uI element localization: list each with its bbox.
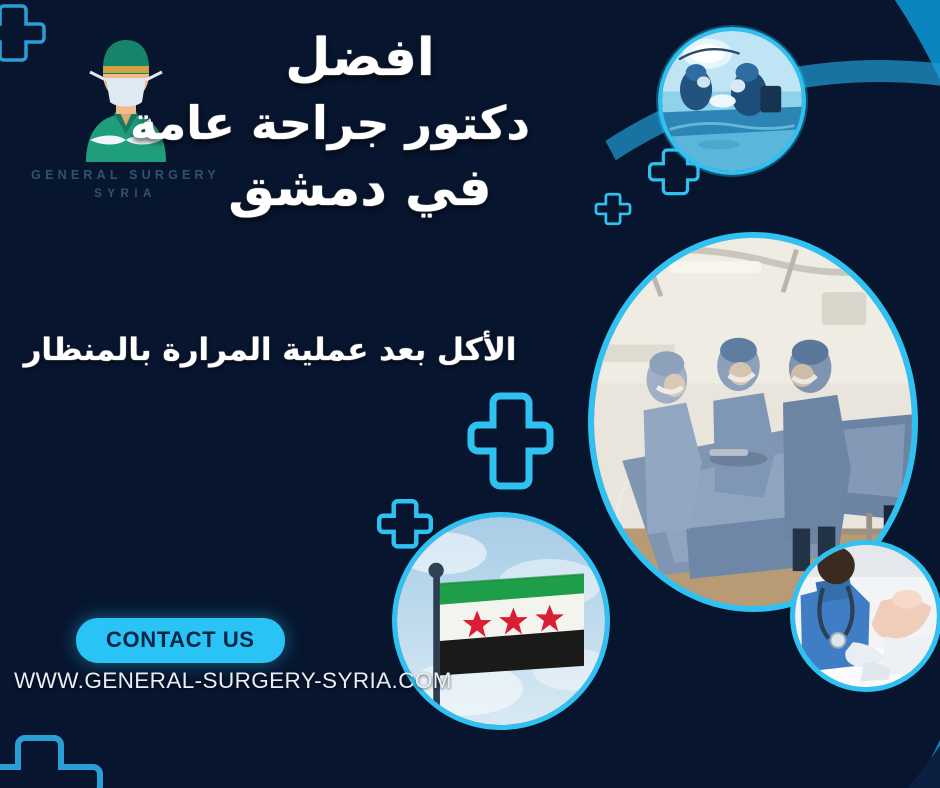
website-url[interactable]: WWW.GENERAL-SURGERY-SYRIA.COM	[14, 668, 452, 694]
photo-nurse-patient	[790, 540, 940, 692]
cross-top-left-icon	[0, 2, 44, 64]
subheadline: الأكل بعد عملية المرارة بالمنظار	[10, 332, 530, 368]
cross-center-small-icon	[380, 498, 430, 548]
headline-block: افضل دكتور جراحة عامة في دمشق	[190, 24, 530, 223]
headline-line-1: افضل	[190, 24, 530, 93]
photo-syria-flag	[392, 512, 610, 730]
headline-line-3: في دمشق	[190, 154, 530, 223]
headline-line-2: دكتور جراحة عامة	[190, 93, 530, 154]
cross-top-mid-icon	[596, 192, 630, 226]
photo-surgery-team-top	[658, 27, 806, 175]
poster-canvas: GENERAL SURGERY SYRIA افضل دكتور جراحة ع…	[0, 0, 940, 788]
contact-us-button[interactable]: CONTACT US	[76, 618, 285, 663]
cross-center-large-icon	[470, 392, 550, 490]
cross-bottom-left-icon	[4, 734, 100, 788]
